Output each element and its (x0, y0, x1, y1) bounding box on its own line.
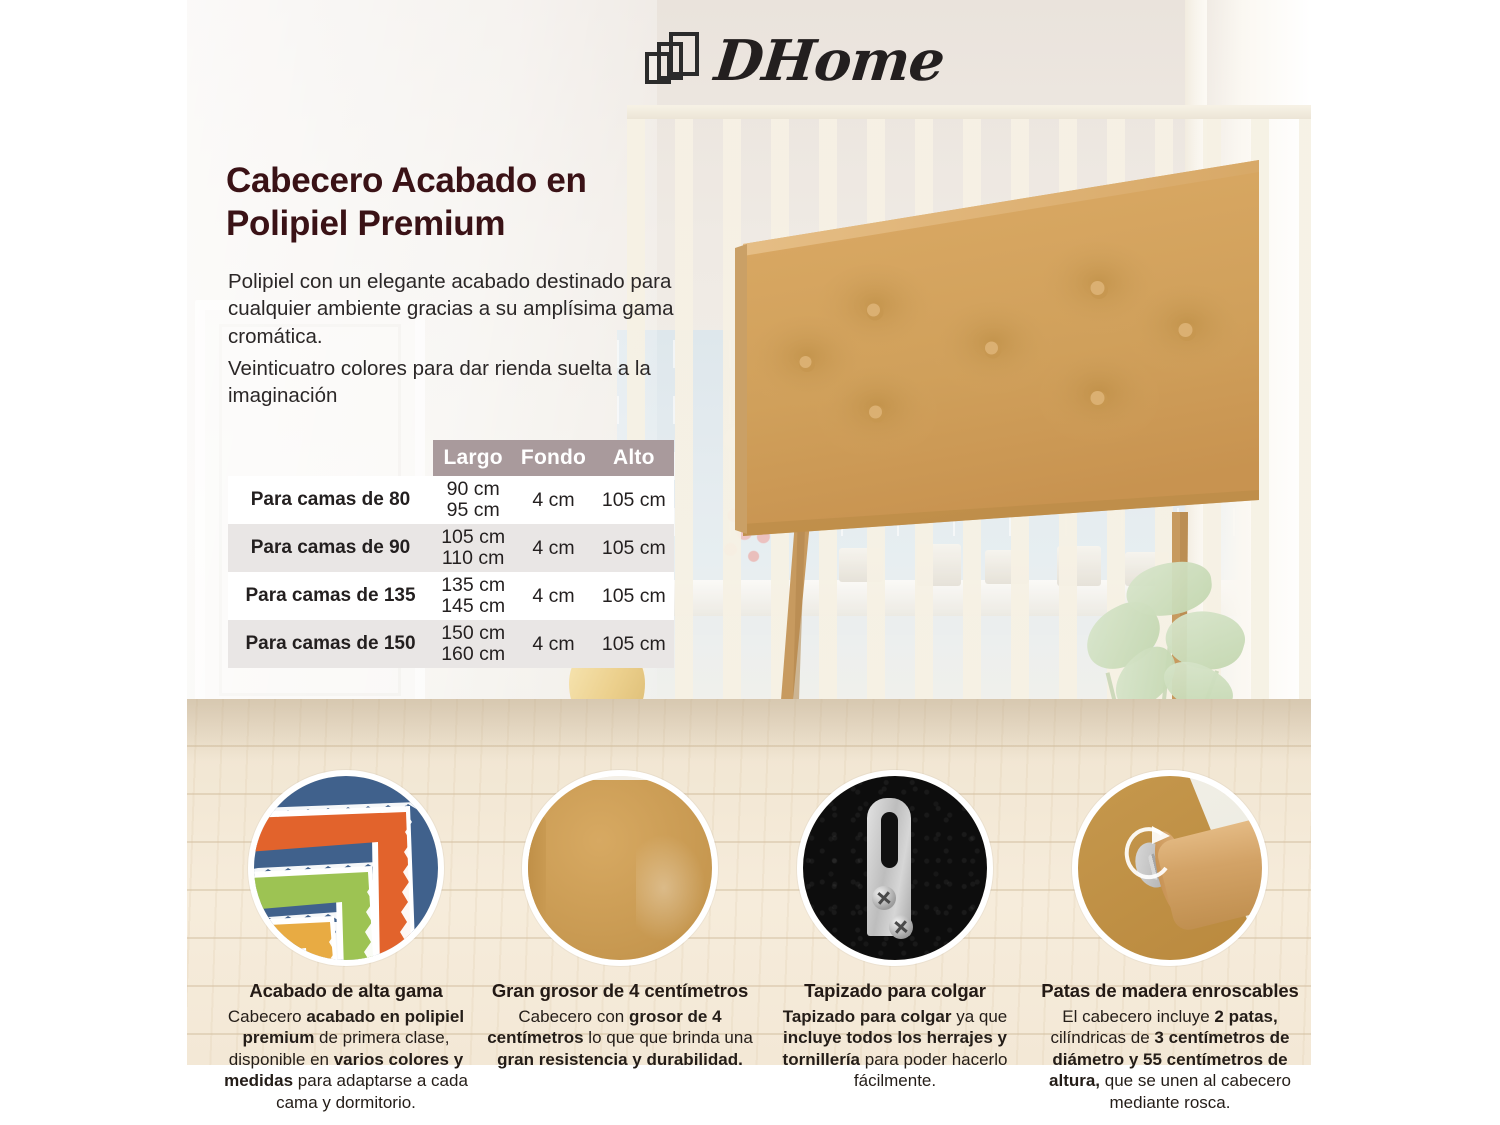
column-header-fondo: Fondo (513, 440, 593, 476)
cell-largo: 105 cm110 cm (433, 527, 513, 569)
dimensions-table: Largo Fondo Alto Para camas de 80 90 cm9… (228, 440, 674, 668)
overlapping-squares-icon (645, 30, 701, 92)
table-header-row: Largo Fondo Alto (228, 440, 674, 476)
cell-fondo: 4 cm (513, 489, 593, 512)
infographic-canvas: DHome Cabecero Acabado en Polipiel Premi… (0, 0, 1500, 1125)
column-header-largo: Largo (433, 440, 513, 476)
cell-alto: 105 cm (594, 489, 674, 512)
page-title: Cabecero Acabado en Polipiel Premium (226, 160, 696, 245)
feature-title: Acabado de alta gama (196, 980, 496, 1002)
table-row: Para camas de 80 90 cm95 cm 4 cm 105 cm (228, 476, 674, 524)
cell-largo: 135 cm145 cm (433, 575, 513, 617)
table-row: Para camas de 150 150 cm160 cm 4 cm 105 … (228, 620, 674, 668)
row-label: Para camas de 135 (228, 585, 433, 607)
cell-largo: 150 cm160 cm (433, 623, 513, 665)
cell-alto: 105 cm (594, 537, 674, 560)
rotation-arrow-icon (1122, 824, 1176, 886)
feature-title: Gran grosor de 4 centímetros (470, 980, 770, 1002)
cell-alto: 105 cm (594, 633, 674, 656)
cell-fondo: 4 cm (513, 537, 593, 560)
row-label: Para camas de 90 (228, 537, 433, 559)
intro-paragraph-1: Polipiel con un elegante acabado destina… (228, 268, 690, 350)
feature-title: Tapizado para colgar (745, 980, 1045, 1002)
wall-bracket-icon (797, 770, 993, 966)
table-row: Para camas de 135 135 cm145 cm 4 cm 105 … (228, 572, 674, 620)
screw-in-wooden-leg-icon (1072, 770, 1268, 966)
feature-title: Patas de madera enroscables (1020, 980, 1320, 1002)
table-row: Para camas de 90 105 cm110 cm 4 cm 105 c… (228, 524, 674, 572)
cell-fondo: 4 cm (513, 633, 593, 656)
brand-logo: DHome (645, 30, 944, 92)
brand-name: DHome (712, 33, 947, 89)
cell-largo: 90 cm95 cm (433, 479, 513, 521)
row-label: Para camas de 80 (228, 489, 433, 511)
row-label: Para camas de 150 (228, 633, 433, 655)
leather-thickness-icon (522, 770, 718, 966)
feature-body: El cabecero incluye 2 patas, cilíndricas… (1020, 1006, 1320, 1113)
feature-item: Tapizado para colgar Tapizado para colga… (745, 770, 1045, 1092)
feature-body: Tapizado para colgar ya que incluye todo… (745, 1006, 1045, 1092)
cell-alto: 105 cm (594, 585, 674, 608)
table-header-spacer (228, 440, 433, 476)
slat-screen-rail (627, 105, 1311, 119)
intro-paragraph-2: Veinticuatro colores para dar rienda sue… (228, 355, 690, 410)
fabric-swatches-icon (248, 770, 444, 966)
feature-item: Acabado de alta gama Cabecero acabado en… (196, 770, 496, 1113)
column-header-alto: Alto (594, 440, 674, 476)
feature-body: Cabecero acabado en polipiel premium de … (196, 1006, 496, 1113)
cell-fondo: 4 cm (513, 585, 593, 608)
feature-item: Gran grosor de 4 centímetros Cabecero co… (470, 770, 770, 1070)
feature-item: Patas de madera enroscables El cabecero … (1020, 770, 1320, 1113)
feature-body: Cabecero con grosor de 4 centímetros lo … (470, 1006, 770, 1070)
